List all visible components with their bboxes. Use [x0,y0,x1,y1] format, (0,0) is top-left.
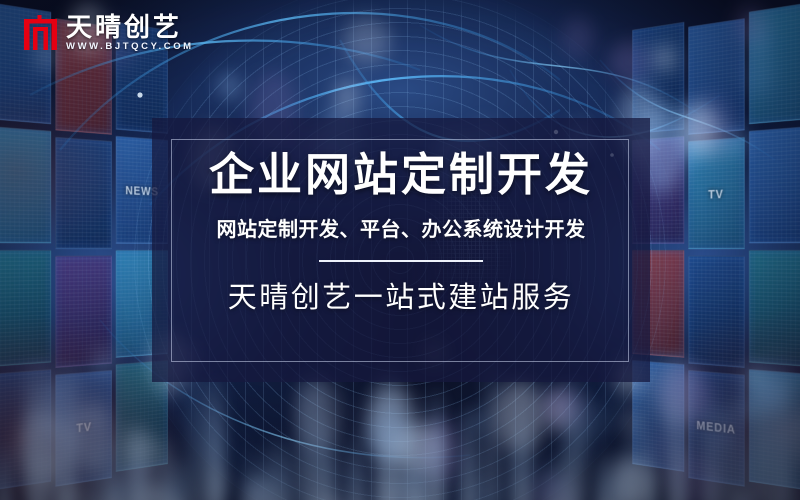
promo-banner: NEWSTV TVMEDIA [0,0,800,500]
page-subtitle: 网站定制开发、平台、办公系统设计开发 [217,218,586,242]
page-tagline: 天晴创艺一站式建站服务 [228,281,575,316]
logo-company-name: 天晴创艺 [66,14,194,40]
divider-rule [319,260,483,262]
panel-content: 企业网站定制开发 网站定制开发、平台、办公系统设计开发 天晴创艺一站式建站服务 [152,118,650,382]
tqcy-monogram-icon [24,15,57,50]
page-title: 企业网站定制开发 [209,151,593,201]
logo-website-url: WWW.BJTQCY.COM [66,42,194,52]
headline-panel: 企业网站定制开发 网站定制开发、平台、办公系统设计开发 天晴创艺一站式建站服务 [152,118,650,382]
brand-logo[interactable]: 天晴创艺 WWW.BJTQCY.COM [24,14,194,52]
